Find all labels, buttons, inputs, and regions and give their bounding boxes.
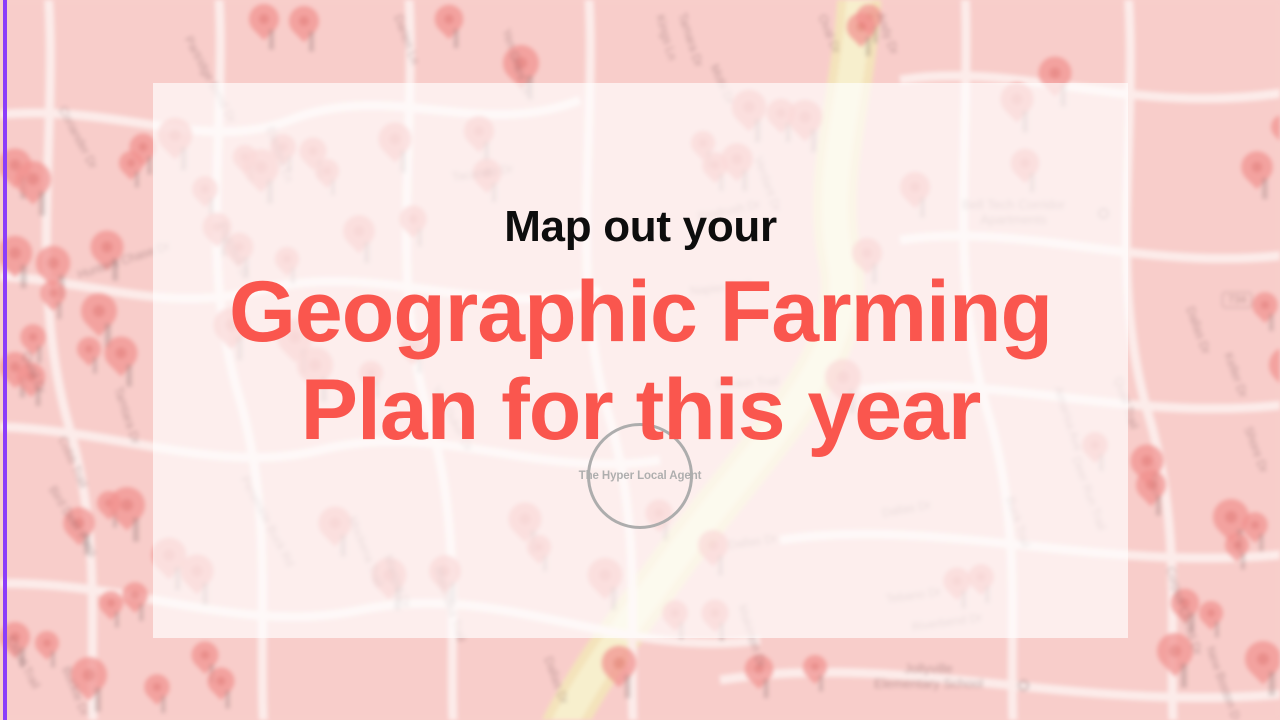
map-street-label: Cobb Trail: [56, 434, 91, 490]
eyebrow-text: Map out your: [504, 205, 777, 249]
map-street-label: Dallas Dr: [1183, 305, 1213, 356]
map-street-label: Tamara Dr: [675, 11, 706, 69]
map-street-label: Shore Dr: [1241, 425, 1271, 475]
page-title: Geographic Farming Plan for this year: [229, 263, 1052, 459]
map-street-label: Keller Dr: [1221, 351, 1250, 400]
map-street-label: Oval Dr: [816, 12, 844, 55]
headline-line-1: Geographic Farming: [229, 263, 1052, 361]
map-street-label: Quail Dr: [20, 349, 49, 395]
map-place-label: JollyvilleElementary School: [874, 662, 983, 692]
map-street-label: Darien Ln: [391, 13, 422, 67]
map-street-label: Andy Dr: [873, 11, 901, 57]
map-street-label: Coriander Dr: [56, 104, 101, 171]
map-street-label: Dallas Dr: [541, 655, 571, 706]
highway-shield-icon: 734: [1222, 292, 1252, 308]
left-accent-rule: [3, 0, 7, 720]
map-street-label: New Boston Dr: [1203, 645, 1244, 720]
map-street-label: Kings Ln: [653, 13, 679, 62]
map-street-label: Buckle Dr: [60, 664, 92, 717]
map-street-label: Corpus Christi Dr: [1163, 565, 1205, 657]
headline-line-2: Plan for this year: [229, 361, 1052, 459]
map-street-label: Cloud Trail: [4, 634, 43, 691]
map-street-label: Tamtara Dr: [111, 385, 143, 446]
map-street-label: Bird Deer Pass: [46, 483, 101, 559]
slide-text-block: Map out your Geographic Farming Plan for…: [153, 83, 1128, 638]
map-place-dot-icon: [1018, 680, 1029, 691]
